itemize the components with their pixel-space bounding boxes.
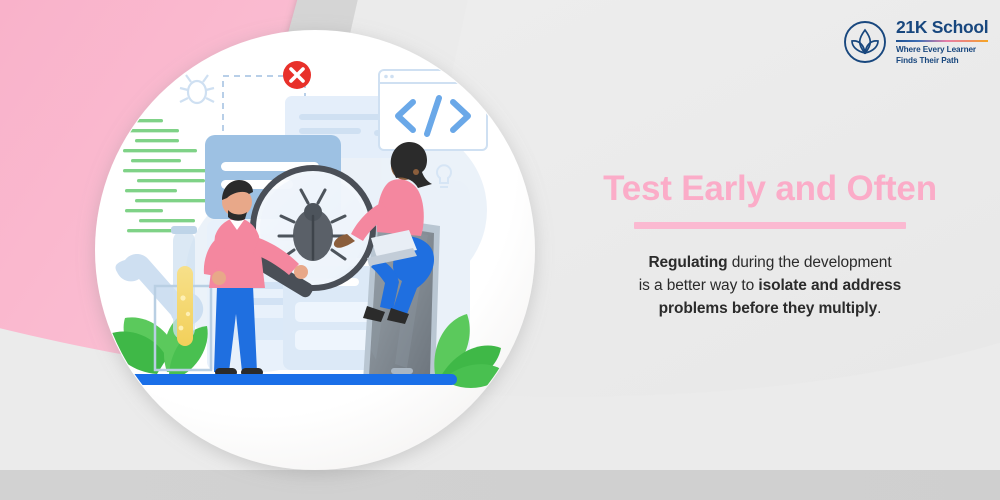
body-bold-4: isolate and address: [758, 277, 901, 294]
body-text-6: .: [877, 300, 881, 317]
page-title: Test Early and Often: [560, 170, 980, 209]
bug-outline-icon: [180, 75, 214, 103]
title-underline: [634, 222, 906, 229]
body-bold-1: Regulating: [648, 254, 727, 271]
error-cross-badge-icon: [283, 61, 311, 89]
message-panel: Test Early and Often Regulating during t…: [560, 170, 980, 320]
illustration-svg: [95, 30, 535, 470]
logo-text-block: 21K School Where Every Learner Finds The…: [896, 18, 988, 66]
code-window-panel: [379, 70, 487, 150]
ground-bar: [127, 374, 457, 385]
body-text-2: during the development: [728, 254, 892, 271]
logo-name: 21K School: [896, 19, 988, 37]
body-copy: Regulating during the development is a b…: [560, 251, 980, 321]
green-code-lines: [116, 119, 213, 232]
body-text-3: is a better way to: [639, 277, 759, 294]
body-bold-5: problems before they multiply: [659, 300, 877, 317]
logo-tagline-line2: Finds Their Path: [896, 56, 988, 67]
poster-canvas: Test Early and Often Regulating during t…: [0, 0, 1000, 500]
logo-tagline: Where Every Learner Finds Their Path: [896, 45, 988, 66]
software-testing-illustration: [95, 30, 535, 470]
brand-logo[interactable]: 21K School Where Every Learner Finds The…: [843, 18, 988, 66]
lotus-circle-icon: [843, 20, 887, 64]
logo-tagline-line1: Where Every Learner: [896, 45, 988, 56]
logo-gradient-rule: [896, 40, 988, 43]
